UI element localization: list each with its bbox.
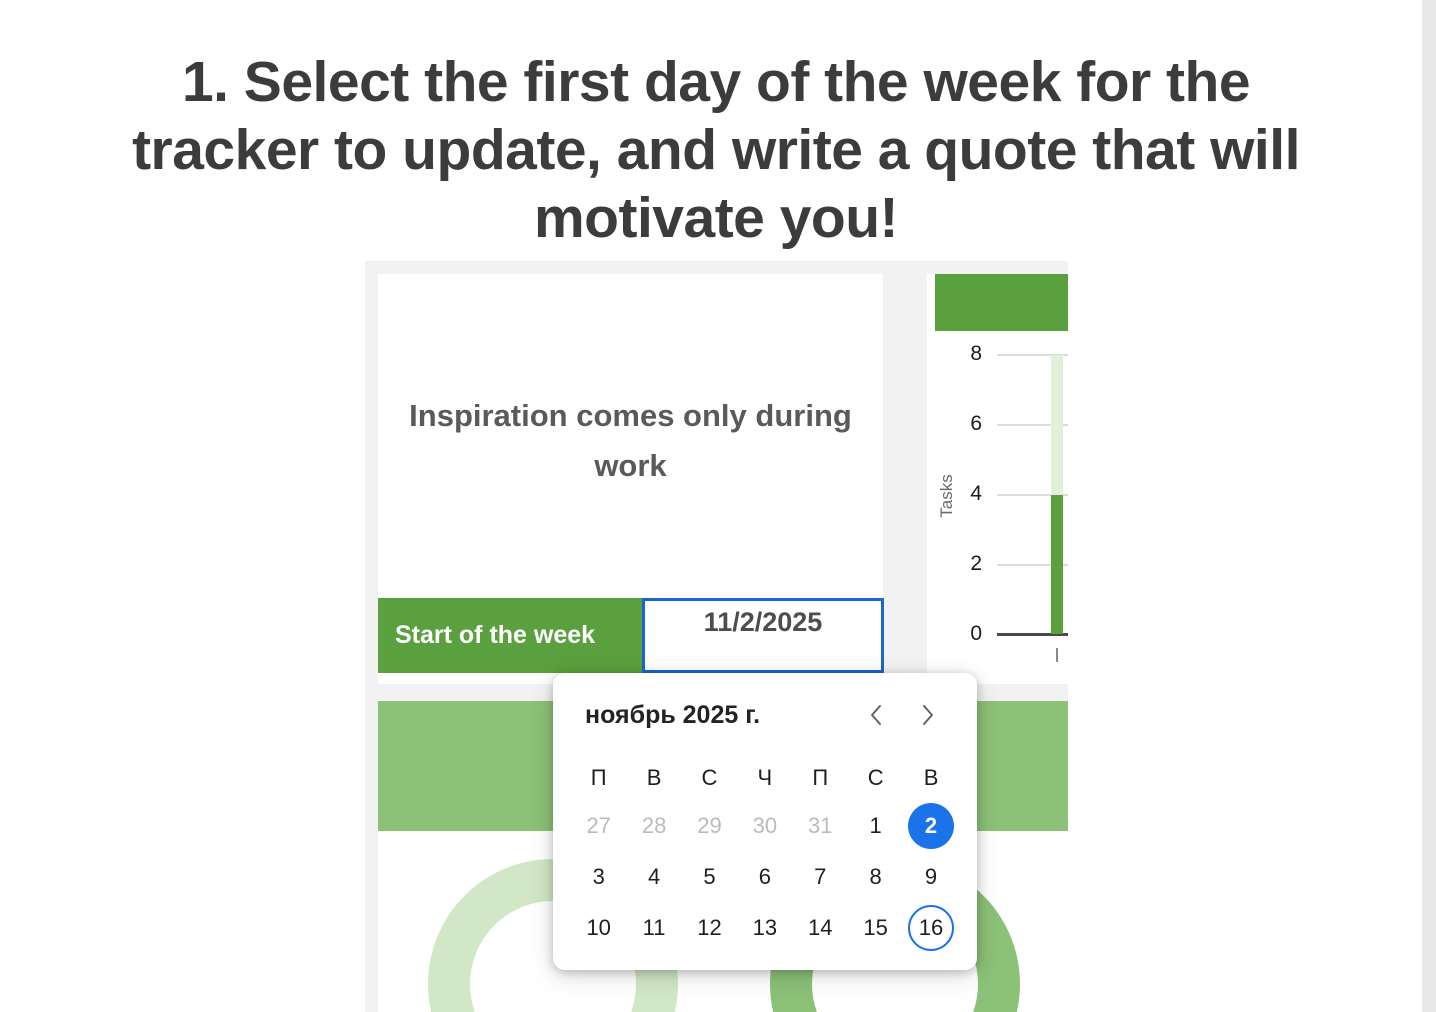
chevron-right-icon[interactable] <box>915 700 941 730</box>
calendar-month-title: ноябрь 2025 г. <box>585 701 760 730</box>
calendar-day-1[interactable]: 1 <box>848 800 903 851</box>
calendar-day-16[interactable]: 16 <box>903 902 958 953</box>
page-title: 1. Select the first day of the week for … <box>96 48 1336 252</box>
calendar-day-label: 10 <box>576 905 622 951</box>
y-tick-label-6: 6 <box>942 412 982 436</box>
calendar-day-9[interactable]: 9 <box>903 851 958 902</box>
calendar-day-31[interactable]: 31 <box>793 800 848 851</box>
y-tick-label-8: 8 <box>942 342 982 366</box>
calendar-day-label: 14 <box>797 905 843 951</box>
calendar-day-label: 31 <box>797 803 843 849</box>
calendar-day-10[interactable]: 10 <box>571 902 626 953</box>
calendar-week-row: 272829303112 <box>571 800 959 851</box>
date-picker-popup[interactable]: ноябрь 2025 г. ПВСЧПСВ 27282930311234567… <box>553 673 977 970</box>
calendar-day-label: 12 <box>686 905 732 951</box>
calendar-day-11[interactable]: 11 <box>626 902 681 953</box>
slide: 1. Select the first day of the week for … <box>0 0 1422 1012</box>
calendar-day-2[interactable]: 2 <box>903 800 958 851</box>
calendar-weekday-1: В <box>626 755 681 800</box>
tasks-chart-panel: Tasks 8 6 4 2 0 <box>927 274 1068 684</box>
calendar-day-4[interactable]: 4 <box>626 851 681 902</box>
y-tick-label-0: 0 <box>942 622 982 646</box>
calendar-day-14[interactable]: 14 <box>793 902 848 953</box>
calendar-day-label: 6 <box>742 854 788 900</box>
calendar-day-label: 5 <box>686 854 732 900</box>
calendar-day-7[interactable]: 7 <box>793 851 848 902</box>
chart-header-bar <box>935 274 1068 331</box>
calendar-day-label: 8 <box>853 854 899 900</box>
calendar-day-label: 9 <box>908 854 954 900</box>
calendar-day-label: 1 <box>853 803 899 849</box>
bar-completed <box>1051 495 1063 634</box>
calendar-day-label: 7 <box>797 854 843 900</box>
calendar-weekday-0: П <box>571 755 626 800</box>
calendar-day-label: 27 <box>576 803 622 849</box>
calendar-day-label: 30 <box>742 803 788 849</box>
start-of-week-date-input[interactable]: 11/2/2025 <box>642 598 884 673</box>
y-tick-label-4: 4 <box>942 482 982 506</box>
quote-text: Inspiration comes only during work <box>400 391 861 491</box>
calendar-day-30[interactable]: 30 <box>737 800 792 851</box>
calendar-day-label: 3 <box>576 854 622 900</box>
calendar-weekday-5: С <box>848 755 903 800</box>
calendar-day-8[interactable]: 8 <box>848 851 903 902</box>
calendar-day-label: 13 <box>742 905 788 951</box>
calendar-day-label: 4 <box>631 854 677 900</box>
calendar-weekday-2: С <box>682 755 737 800</box>
calendar-day-12[interactable]: 12 <box>682 902 737 953</box>
calendar-day-29[interactable]: 29 <box>682 800 737 851</box>
calendar-weekday-4: П <box>793 755 848 800</box>
y-tick-label-2: 2 <box>942 552 982 576</box>
calendar-weeks: 272829303112345678910111213141516 <box>571 800 959 953</box>
calendar-day-label: 11 <box>631 905 677 951</box>
quote-cell[interactable]: Inspiration comes only during work <box>378 274 883 608</box>
calendar-day-label: 15 <box>853 905 899 951</box>
calendar-day-13[interactable]: 13 <box>737 902 792 953</box>
calendar-week-row: 3456789 <box>571 851 959 902</box>
calendar-day-5[interactable]: 5 <box>682 851 737 902</box>
calendar-day-15[interactable]: 15 <box>848 902 903 953</box>
tasks-bar-chart: Tasks 8 6 4 2 0 <box>927 336 1068 684</box>
calendar-day-6[interactable]: 6 <box>737 851 792 902</box>
calendar-day-label: 2 <box>908 803 954 849</box>
calendar-day-label: 28 <box>631 803 677 849</box>
calendar-grid: ПВСЧПСВ 27282930311234567891011121314151… <box>571 755 959 953</box>
calendar-weekday-6: В <box>903 755 958 800</box>
chevron-left-icon[interactable] <box>863 700 889 730</box>
calendar-day-27[interactable]: 27 <box>571 800 626 851</box>
start-of-week-row: Start of the week 11/2/2025 <box>378 598 896 673</box>
calendar-day-3[interactable]: 3 <box>571 851 626 902</box>
calendar-nav <box>863 700 941 730</box>
start-of-week-label: Start of the week <box>378 598 642 673</box>
calendar-day-28[interactable]: 28 <box>626 800 681 851</box>
calendar-day-label: 29 <box>686 803 732 849</box>
calendar-weekday-3: Ч <box>737 755 792 800</box>
calendar-header: ноябрь 2025 г. <box>553 695 977 735</box>
x-axis-tick <box>1056 648 1058 662</box>
calendar-week-row: 10111213141516 <box>571 902 959 953</box>
calendar-weekday-row: ПВСЧПСВ <box>571 755 959 800</box>
calendar-day-label: 16 <box>908 905 954 951</box>
